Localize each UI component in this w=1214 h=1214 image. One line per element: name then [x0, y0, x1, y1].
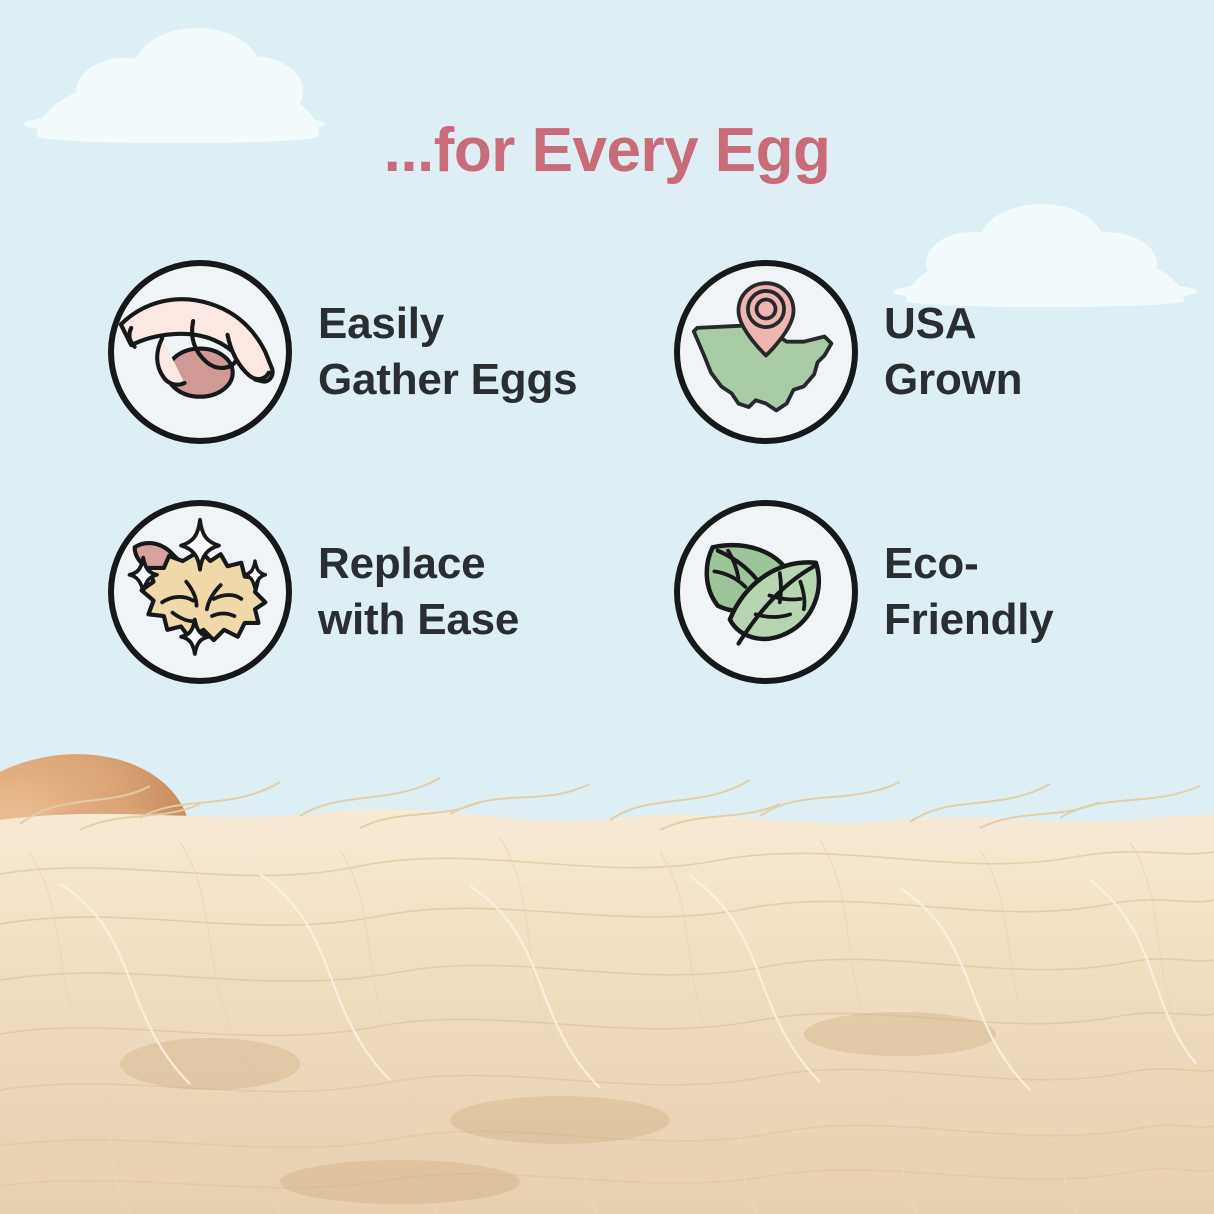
- infographic-panel: ...for Every Egg Easily Gather Eggs: [0, 0, 1214, 1214]
- feature-usa-grown: USA Grown: [608, 232, 1108, 472]
- leaves-icon: [674, 500, 858, 684]
- eggs-in-nesting-material-photo: [0, 714, 1214, 1214]
- nest-photo-art: [0, 734, 1214, 1214]
- nesting-pad-sparkle-icon: [108, 500, 292, 684]
- feature-easily-gather-eggs: Easily Gather Eggs: [108, 232, 608, 472]
- feature-label: Easily Gather Eggs: [318, 296, 577, 409]
- page-title: ...for Every Egg: [0, 118, 1214, 183]
- feature-eco-friendly: Eco- Friendly: [608, 472, 1108, 712]
- feature-label: Replace with Ease: [318, 536, 519, 649]
- feature-label: Eco- Friendly: [884, 536, 1054, 649]
- hand-picking-egg-icon: [108, 260, 292, 444]
- feature-replace-with-ease: Replace with Ease: [108, 472, 608, 712]
- feature-label: USA Grown: [884, 296, 1022, 409]
- usa-map-pin-icon: [674, 260, 858, 444]
- feature-grid: Easily Gather Eggs USA Grown: [108, 232, 1108, 712]
